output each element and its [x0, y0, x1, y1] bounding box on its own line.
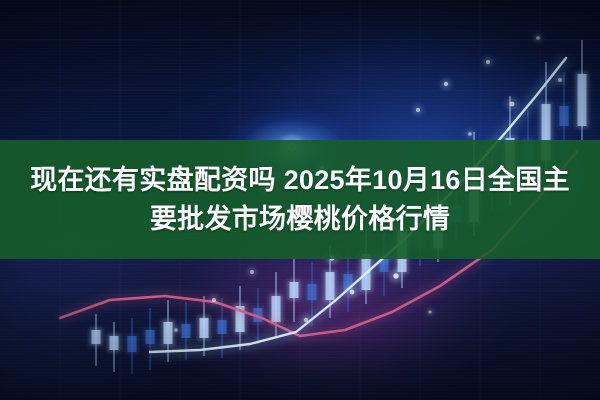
headline-banner: 现在还有实盘配资吗 2025年10月16日全国主 要批发市场樱桃价格行情 — [0, 140, 600, 259]
banner-image: 现在还有实盘配资吗 2025年10月16日全国主 要批发市场樱桃价格行情 — [0, 0, 600, 400]
headline-text: 现在还有实盘配资吗 2025年10月16日全国主 要批发市场樱桃价格行情 — [20, 161, 580, 239]
